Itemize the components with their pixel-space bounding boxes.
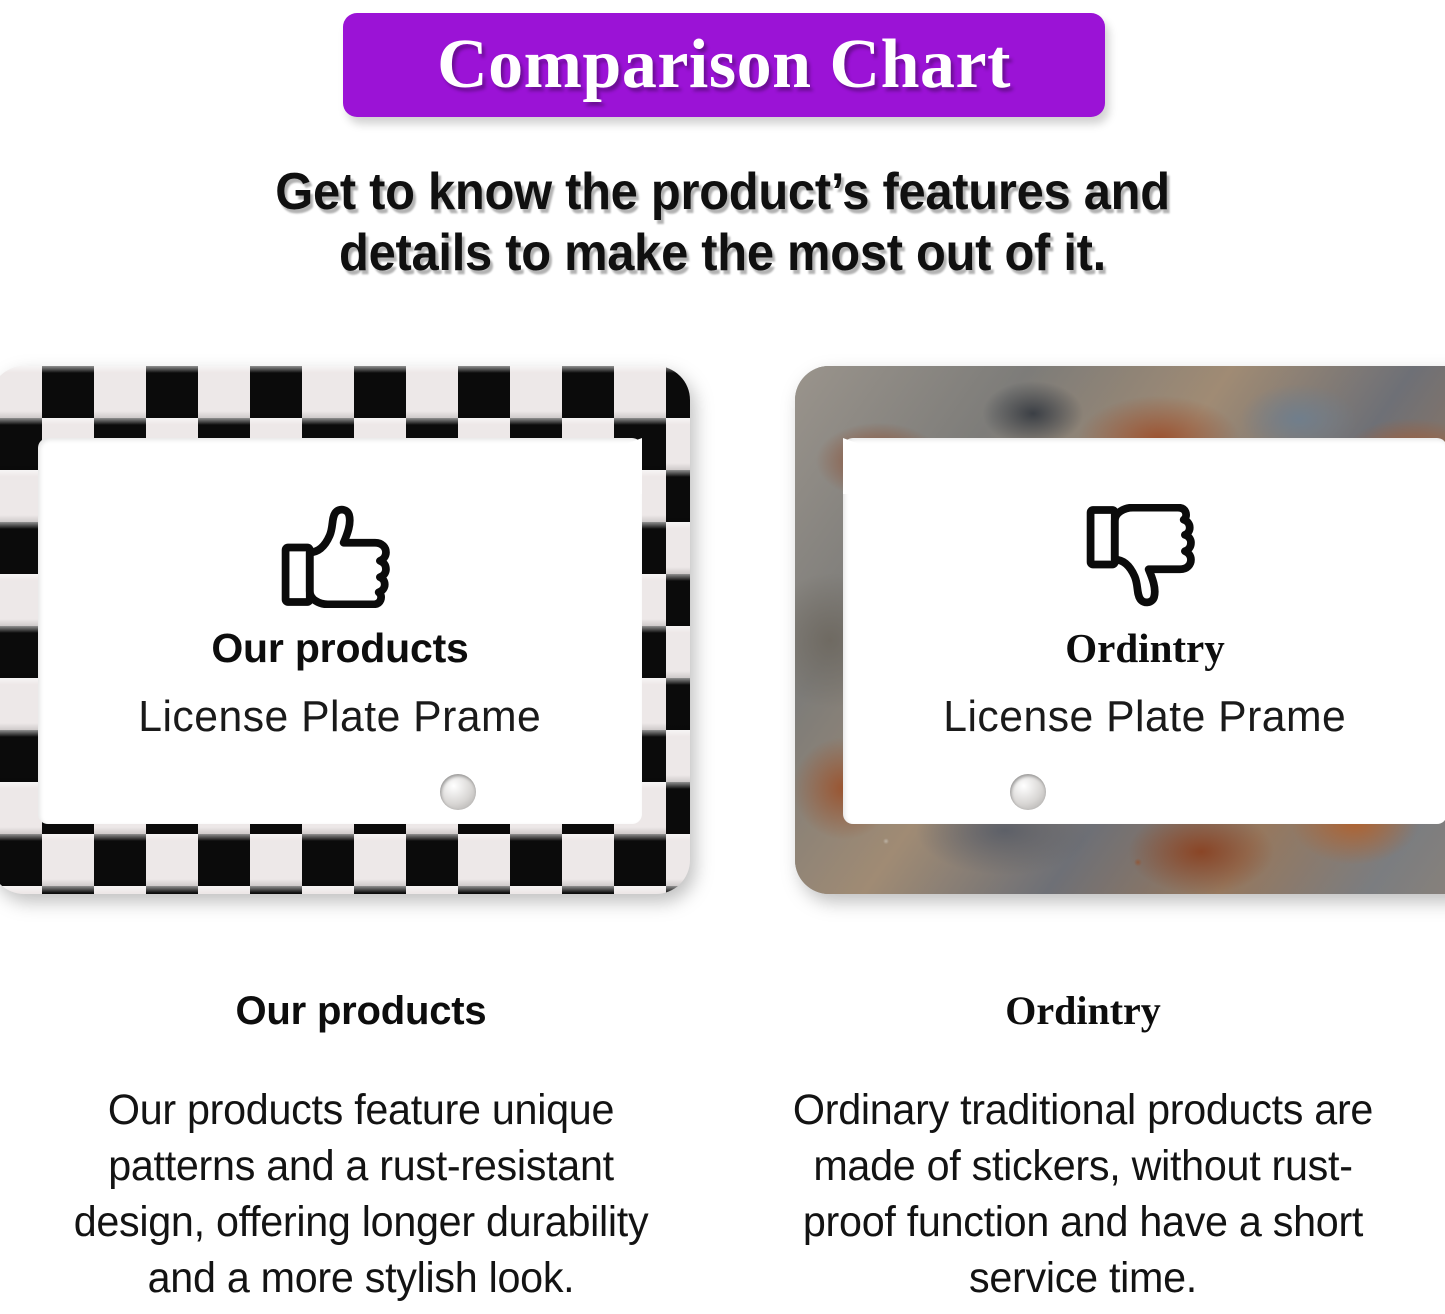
- our-product-plate-frame: Our products License Plate Prame: [0, 366, 690, 894]
- our-product-name-label: License Plate Prame: [138, 695, 541, 739]
- ordinary-product-description-column: Ordintry Ordinary traditional products a…: [722, 975, 1444, 1314]
- page-title: Comparison Chart: [437, 30, 1011, 100]
- ordinary-product-plate-content: Ordintry License Plate Prame: [851, 486, 1439, 816]
- our-product-plate-content: Our products License Plate Prame: [46, 486, 634, 816]
- comparison-description-row: Our products Our products feature unique…: [0, 975, 1445, 1314]
- thumbs-up-icon: [279, 504, 401, 608]
- ordinary-product-plate-frame: Ordintry License Plate Prame: [795, 366, 1445, 894]
- product-frame-row: Our products License Plate Prame Ordintr…: [0, 352, 1445, 912]
- our-product-brand-label: Our products: [211, 628, 468, 669]
- subtitle-line-1: Get to know the product’s features and: [43, 162, 1401, 223]
- comparison-chart-banner: Comparison Chart: [343, 13, 1105, 117]
- ordinary-product-brand-label: Ordintry: [1065, 628, 1224, 669]
- subtitle: Get to know the product’s features and d…: [43, 162, 1401, 285]
- our-product-description: Our products feature unique patterns and…: [54, 1083, 668, 1307]
- ordinary-product-description: Ordinary traditional products are made o…: [776, 1083, 1390, 1307]
- ordinary-product-heading: Ordintry: [1005, 991, 1161, 1031]
- thumbs-down-icon: [1084, 504, 1206, 608]
- subtitle-line-2: details to make the most out of it.: [43, 223, 1401, 284]
- our-product-heading: Our products: [236, 991, 487, 1031]
- our-product-description-column: Our products Our products feature unique…: [0, 975, 722, 1314]
- ordinary-product-name-label: License Plate Prame: [943, 695, 1346, 739]
